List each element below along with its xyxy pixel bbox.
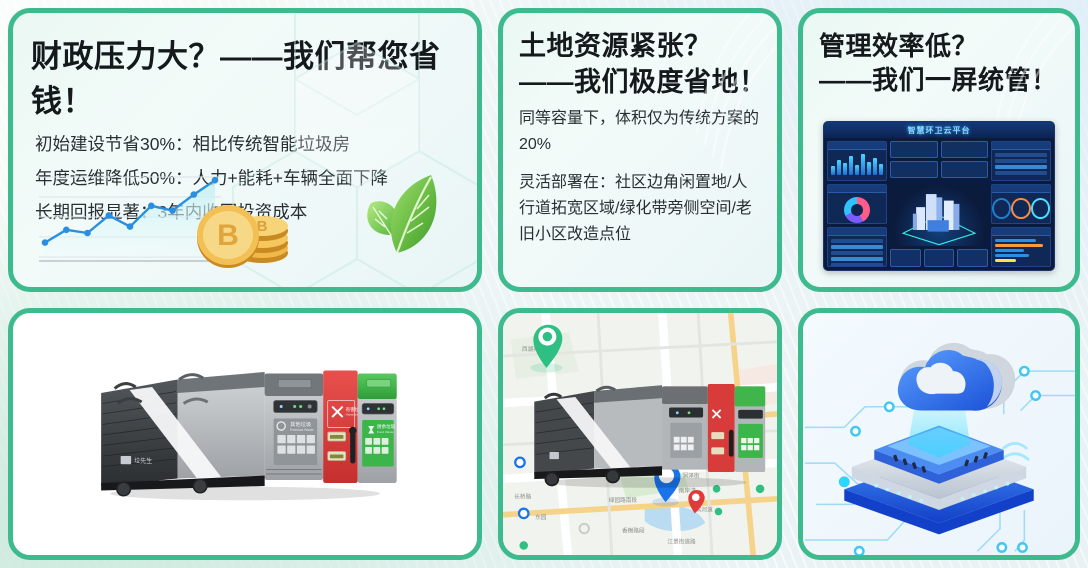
chart-data-point <box>148 203 155 210</box>
gauge-ring <box>1031 198 1050 219</box>
dashboard-right-column <box>991 141 1051 267</box>
dashboard-body <box>824 138 1054 270</box>
kpi-card <box>890 161 938 178</box>
data-table-mini <box>992 150 1050 178</box>
svg-text:东园: 东园 <box>535 513 547 521</box>
svg-text:Food Waste: Food Waste <box>377 429 393 433</box>
svg-text:长桥路: 长桥路 <box>514 492 531 500</box>
panel-header <box>992 142 1050 150</box>
dashboard-header: 智慧环卫云平台 <box>824 122 1054 138</box>
green-leaf-icon <box>345 163 455 273</box>
card-cost-saving: 财政压力大？——我们帮您省钱！ 初始建设节省30%：相比传统智能垃圾房 年度运维… <box>8 8 482 292</box>
horizontal-bar-chart <box>992 236 1050 265</box>
kpi-card <box>941 161 989 178</box>
manage-title-line2: ——我们一屏统管！ <box>819 65 1058 95</box>
dashboard-center-column <box>890 141 988 267</box>
manage-title-line1: 管理效率低？ <box>819 31 978 61</box>
card-cloud-platform <box>798 308 1080 560</box>
card-land-body: 同等容量下，体积仅为传统方案的20% 灵活部署在：社区边角闲置地/人行道拓宽区域… <box>503 100 777 248</box>
card-product-photo: 其他垃圾 Residual Waste 有害垃圾 Hazardous <box>8 308 482 560</box>
card-grid: 财政压力大？——我们帮您省钱！ 初始建设节省30%：相比传统智能垃圾房 年度运维… <box>0 0 1088 568</box>
chart-data-point <box>106 212 113 219</box>
chart-data-point <box>63 227 70 234</box>
status-tile <box>924 249 955 267</box>
panel-vehicle-detail <box>827 227 887 267</box>
donut-chart <box>844 197 870 223</box>
card-management: 管理效率低？ ——我们一屏统管！ 智慧环卫云平台 <box>798 8 1080 292</box>
gold-coins-icon: B B <box>188 181 298 273</box>
map-scene: 长桥路东园 绿园路南段香榭路段 江景街道路润泽街 南岸湾滨河道 新湖路西湖苑 <box>503 313 777 555</box>
panel-category-ratio <box>827 184 887 224</box>
city-map-icon: 长桥路东园 绿园路南段香榭路段 江景街道路润泽街 南岸湾滨河道 新湖路西湖苑 <box>503 313 777 555</box>
card-deployment-map: 长桥路东园 绿园路南段香榭路段 江景街道路润泽街 南岸湾滨河道 新湖路西湖苑 <box>498 308 782 560</box>
panel-header <box>828 185 886 193</box>
cloud-server-icon <box>803 313 1075 555</box>
cloud-platform-dashboard: 智慧环卫云平台 <box>823 121 1055 271</box>
kpi-card <box>941 141 989 158</box>
panel-header <box>828 142 886 150</box>
panel-header <box>992 228 1050 236</box>
svg-text:香榭路段: 香榭路段 <box>622 526 645 534</box>
dashboard-title: 智慧环卫云平台 <box>908 125 971 136</box>
cost-line-1: 初始建设节省30%：相比传统智能垃圾房 <box>35 127 477 161</box>
chart-data-point <box>127 223 134 230</box>
svg-text:绿园路南段: 绿园路南段 <box>609 496 638 504</box>
isometric-city-icon <box>890 181 988 246</box>
land-title-line1: 土地资源紧张？ <box>519 31 712 61</box>
svg-text:江景街道路: 江景街道路 <box>667 538 696 546</box>
land-paragraph-1: 同等容量下，体积仅为传统方案的20% <box>519 106 761 158</box>
data-table-mini <box>828 236 886 267</box>
land-paragraph-2: 灵活部署在：社区边角闲置地/人行道拓宽区域/绿化带旁侧空间/老旧小区改造点位 <box>519 170 761 248</box>
gauge-group <box>992 193 1050 223</box>
card-management-title: 管理效率低？ ——我们一屏统管！ <box>803 13 1075 98</box>
panel-alarm-rate <box>991 184 1051 224</box>
status-tile <box>890 249 921 267</box>
land-title-line2: ——我们极度省地！ <box>519 67 767 97</box>
status-tile-group <box>890 249 988 267</box>
kpi-group <box>890 141 988 178</box>
smart-waste-station-icon: 其他垃圾 Residual Waste 有害垃圾 Hazardous <box>41 357 449 507</box>
gauge-ring <box>1011 198 1030 219</box>
city-svg <box>890 181 988 246</box>
status-tile <box>957 249 988 267</box>
svg-text:B: B <box>217 219 239 252</box>
bar-chart-mini <box>828 150 886 178</box>
panel-header <box>992 185 1050 193</box>
chart-data-point <box>84 230 91 237</box>
card-land-title: 土地资源紧张？ ——我们极度省地！ <box>503 13 777 100</box>
panel-header <box>828 228 886 236</box>
cloud-scene <box>803 313 1075 555</box>
kpi-card <box>890 141 938 158</box>
chart-data-point <box>42 239 49 246</box>
panel-attendance <box>991 227 1051 267</box>
card-land-saving: 土地资源紧张？ ——我们极度省地！ 同等容量下，体积仅为传统方案的20% 灵活部… <box>498 8 782 292</box>
svg-text:Residual Waste: Residual Waste <box>290 428 314 432</box>
dashboard-left-column <box>827 141 887 267</box>
gauge-ring <box>992 198 1011 219</box>
product-scene: 其他垃圾 Residual Waste 有害垃圾 Hazardous <box>13 313 477 555</box>
panel-monthly-volume <box>827 141 887 181</box>
card-cost-title: 财政压力大？——我们帮您省钱！ <box>13 13 477 121</box>
panel-device-status <box>991 141 1051 181</box>
chart-data-point <box>169 207 176 214</box>
